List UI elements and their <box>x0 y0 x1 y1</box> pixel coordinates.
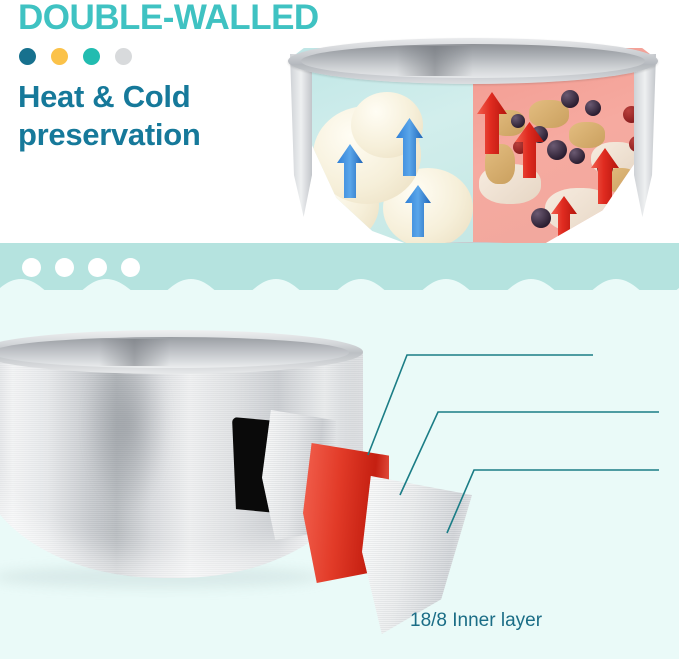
divider-dot <box>55 258 74 277</box>
divider-dot <box>121 258 140 277</box>
top-panel: DOUBLE-WALLED Heat & Cold preservation <box>0 0 679 243</box>
cold-arrow-up-icon <box>396 118 423 176</box>
granola-cluster <box>569 122 605 148</box>
blueberry <box>547 140 567 160</box>
blueberry <box>561 90 579 108</box>
cold-arrow-up-icon <box>405 185 431 237</box>
cold-arrow-up-icon <box>337 144 363 198</box>
subtitle-line-2: preservation <box>18 116 200 154</box>
divider-dot-row <box>22 258 140 277</box>
blueberry <box>585 100 601 116</box>
hot-arrow-up-icon <box>591 148 619 204</box>
hot-arrow-up-icon <box>477 92 507 154</box>
infographic-stage: DOUBLE-WALLED Heat & Cold preservation <box>0 0 679 659</box>
subtitle-line-1: Heat & Cold <box>18 78 200 116</box>
dot-dark-teal <box>19 48 36 65</box>
leader-line-inner <box>368 355 593 455</box>
divider-dot <box>22 258 41 277</box>
callout-inner-layer: 18/8 Inner layer <box>410 610 542 632</box>
bowl-wall-left <box>290 54 312 222</box>
top-dot-row <box>19 48 132 65</box>
bottom-panel: 18/8 Inner layer Vacuum insulated 18/8 o… <box>0 290 679 659</box>
leader-line-vacuum <box>400 412 659 495</box>
bowl-rim-inner <box>301 44 645 78</box>
dot-teal <box>83 48 100 65</box>
divider-dot <box>88 258 107 277</box>
page-subtitle: Heat & Cold preservation <box>18 78 200 154</box>
bowl-rim-inner <box>0 337 349 368</box>
hot-arrow-up-icon <box>551 196 577 243</box>
leader-line-outer <box>447 470 659 533</box>
blueberry <box>569 148 585 164</box>
bowl-wall-right <box>634 54 656 222</box>
blueberry <box>531 208 551 228</box>
split-food-bowl <box>288 36 658 243</box>
dot-amber <box>51 48 68 65</box>
hot-arrow-up-icon <box>515 122 544 178</box>
dot-gray <box>115 48 132 65</box>
page-title: DOUBLE-WALLED <box>18 0 319 38</box>
bowl-highlight <box>86 368 168 508</box>
